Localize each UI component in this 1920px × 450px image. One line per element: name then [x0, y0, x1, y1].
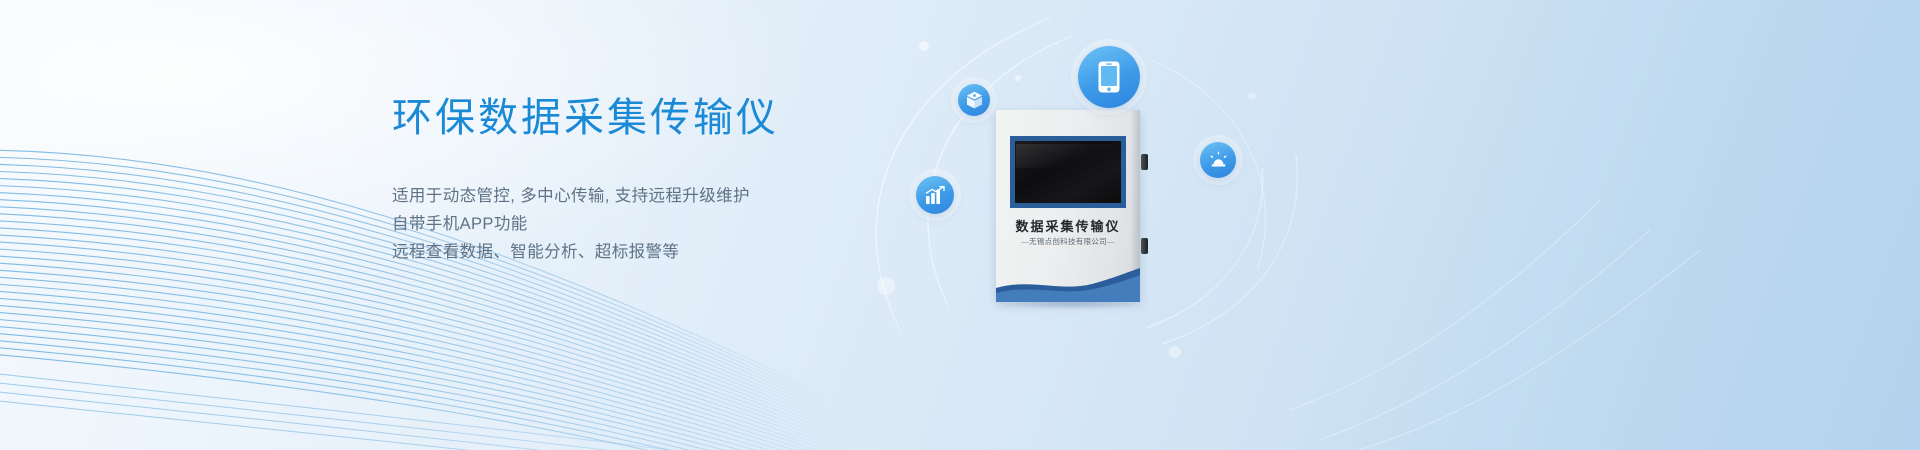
alarm-siren-icon: [1209, 151, 1228, 170]
background-wave-lines: [0, 0, 1920, 450]
hero-subtitle-list: 适用于动态管控, 多中心传输, 支持远程升级维护 自带手机APP功能 远程查看数…: [392, 182, 912, 266]
product-hero-banner: 环保数据采集传输仪 适用于动态管控, 多中心传输, 支持远程升级维护 自带手机A…: [0, 0, 1920, 450]
screen-glare: [1016, 144, 1116, 168]
background-decoration: [0, 0, 1920, 450]
analytics-badge[interactable]: [916, 176, 954, 214]
box-icon: [966, 91, 983, 109]
device-name-label: 数据采集传输仪: [996, 216, 1140, 235]
product-device-image: 数据采集传输仪 —无锡点创科技有限公司—: [996, 110, 1144, 310]
device-wave-graphic: [996, 262, 1140, 302]
subtitle-line-1: 适用于动态管控, 多中心传输, 支持远程升级维护: [392, 182, 912, 210]
device-hinge-bottom: [1141, 238, 1148, 254]
subtitle-line-3: 远程查看数据、智能分析、超标报警等: [392, 238, 912, 266]
subtitle-line-2: 自带手机APP功能: [392, 210, 912, 238]
mobile-app-badge[interactable]: [1078, 46, 1140, 108]
page-title: 环保数据采集传输仪: [392, 96, 912, 140]
device-company-label: —无锡点创科技有限公司—: [996, 236, 1140, 247]
hero-text-block: 环保数据采集传输仪 适用于动态管控, 多中心传输, 支持远程升级维护 自带手机A…: [392, 96, 912, 266]
smartphone-icon: [1097, 60, 1121, 94]
package-badge[interactable]: [958, 84, 990, 116]
device-hinge-top: [1141, 154, 1148, 170]
device-cabinet: 数据采集传输仪 —无锡点创科技有限公司—: [996, 110, 1140, 302]
alarm-badge[interactable]: [1200, 142, 1236, 178]
bar-chart-icon: [925, 186, 945, 205]
